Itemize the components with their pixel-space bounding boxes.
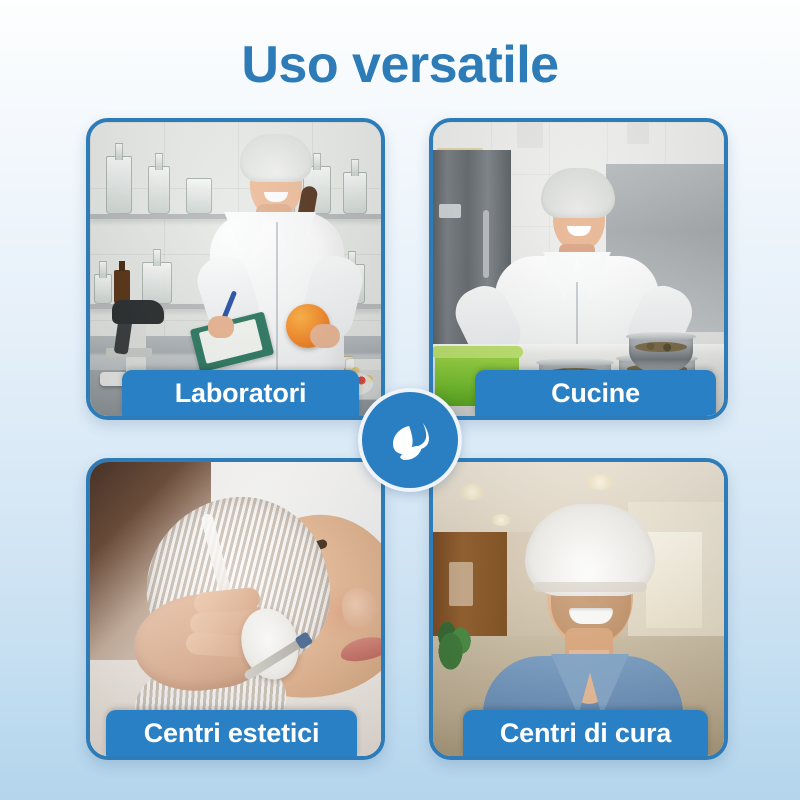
lab-flask-4 [142, 262, 172, 304]
worker-hairnet [525, 504, 655, 596]
kitchen-vent-2 [627, 122, 649, 144]
worker-smile [569, 608, 613, 624]
bowl-rim [626, 332, 696, 341]
microscope-eyepiece [112, 300, 164, 324]
page-title: Uso versatile [0, 34, 800, 96]
card-cucine[interactable]: Cucine [429, 118, 728, 420]
lab-brown-bottle [114, 270, 130, 304]
card-label-cucine[interactable]: Cucine [475, 370, 716, 416]
technician-hairnet [240, 134, 312, 182]
ceiling-light-1 [459, 484, 485, 500]
card-label-centri-di-cura[interactable]: Centri di cura [463, 710, 708, 756]
bowl-rim [536, 358, 614, 367]
fridge-label [439, 204, 461, 218]
kitchen-vent-1 [517, 122, 543, 148]
lab-flask-5 [94, 274, 112, 304]
lab-bottle-1 [106, 156, 132, 214]
card-label-laboratori[interactable]: Laboratori [122, 370, 359, 416]
bowl-contents [635, 342, 686, 352]
logo-disc [362, 392, 458, 488]
cook-hairnet [541, 168, 615, 218]
card-label-centri-estetici[interactable]: Centri estetici [106, 710, 357, 756]
lab-bottle-2 [148, 166, 170, 214]
center-logo-medallion[interactable] [358, 388, 462, 492]
card-centri-estetici[interactable]: Centri estetici [86, 458, 385, 760]
technician-hand-right [310, 324, 340, 348]
card-laboratori[interactable]: Laboratori [86, 118, 385, 420]
technician-hand-left [208, 316, 234, 338]
card-centri-di-cura[interactable]: Centri di cura [429, 458, 728, 760]
corridor-plant [437, 620, 471, 672]
microscope-stage [106, 348, 152, 357]
leaf-drop-icon [379, 409, 441, 471]
